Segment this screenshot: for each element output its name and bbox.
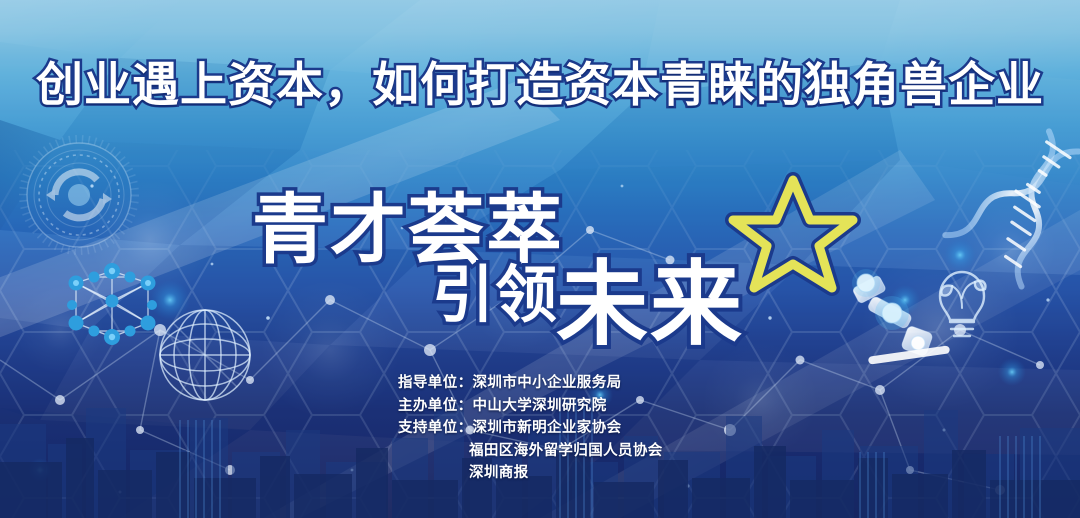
credit-value: 深圳市新明企业家协会 [473, 420, 622, 436]
credit-row: 主办单位：中山大学深圳研究院 [398, 395, 663, 418]
page-title: 创业遇上资本，如何打造资本青睐的独角兽企业 [0, 46, 1080, 115]
dna-helix-icon [945, 116, 1080, 287]
credit-value: 深圳市中小企业服务局 [473, 375, 622, 391]
wireframe-globe-icon [160, 310, 250, 400]
credit-row: 支持单位：深圳市新明企业家协会 [398, 417, 663, 440]
molecule-cluster-icon [67, 263, 157, 345]
credit-row: 福田区海外留学归国人员协会 [398, 440, 663, 463]
credit-row: 指导单位：深圳市中小企业服务局 [398, 372, 663, 395]
hud-ring-icon [23, 139, 135, 251]
robot-arm-icon [852, 269, 950, 365]
credit-value: 中山大学深圳研究院 [473, 398, 607, 414]
credit-label: 主办单位： [398, 395, 473, 418]
credit-value: 深圳商报 [469, 465, 529, 481]
credit-value: 福田区海外留学归国人员协会 [469, 443, 663, 459]
credit-label: 支持单位： [398, 417, 473, 440]
organizer-credits: 指导单位：深圳市中小企业服务局主办单位：中山大学深圳研究院支持单位：深圳市新明企… [398, 372, 663, 485]
star-outline-icon [733, 180, 853, 288]
lightbulb-sprout-icon [940, 272, 986, 336]
event-banner: 创业遇上资本，如何打造资本青睐的独角兽企业 青才荟萃 引领 未来 指导单位：深圳… [0, 0, 1080, 518]
credit-label: 指导单位： [398, 372, 473, 395]
credit-row: 深圳商报 [398, 462, 663, 485]
